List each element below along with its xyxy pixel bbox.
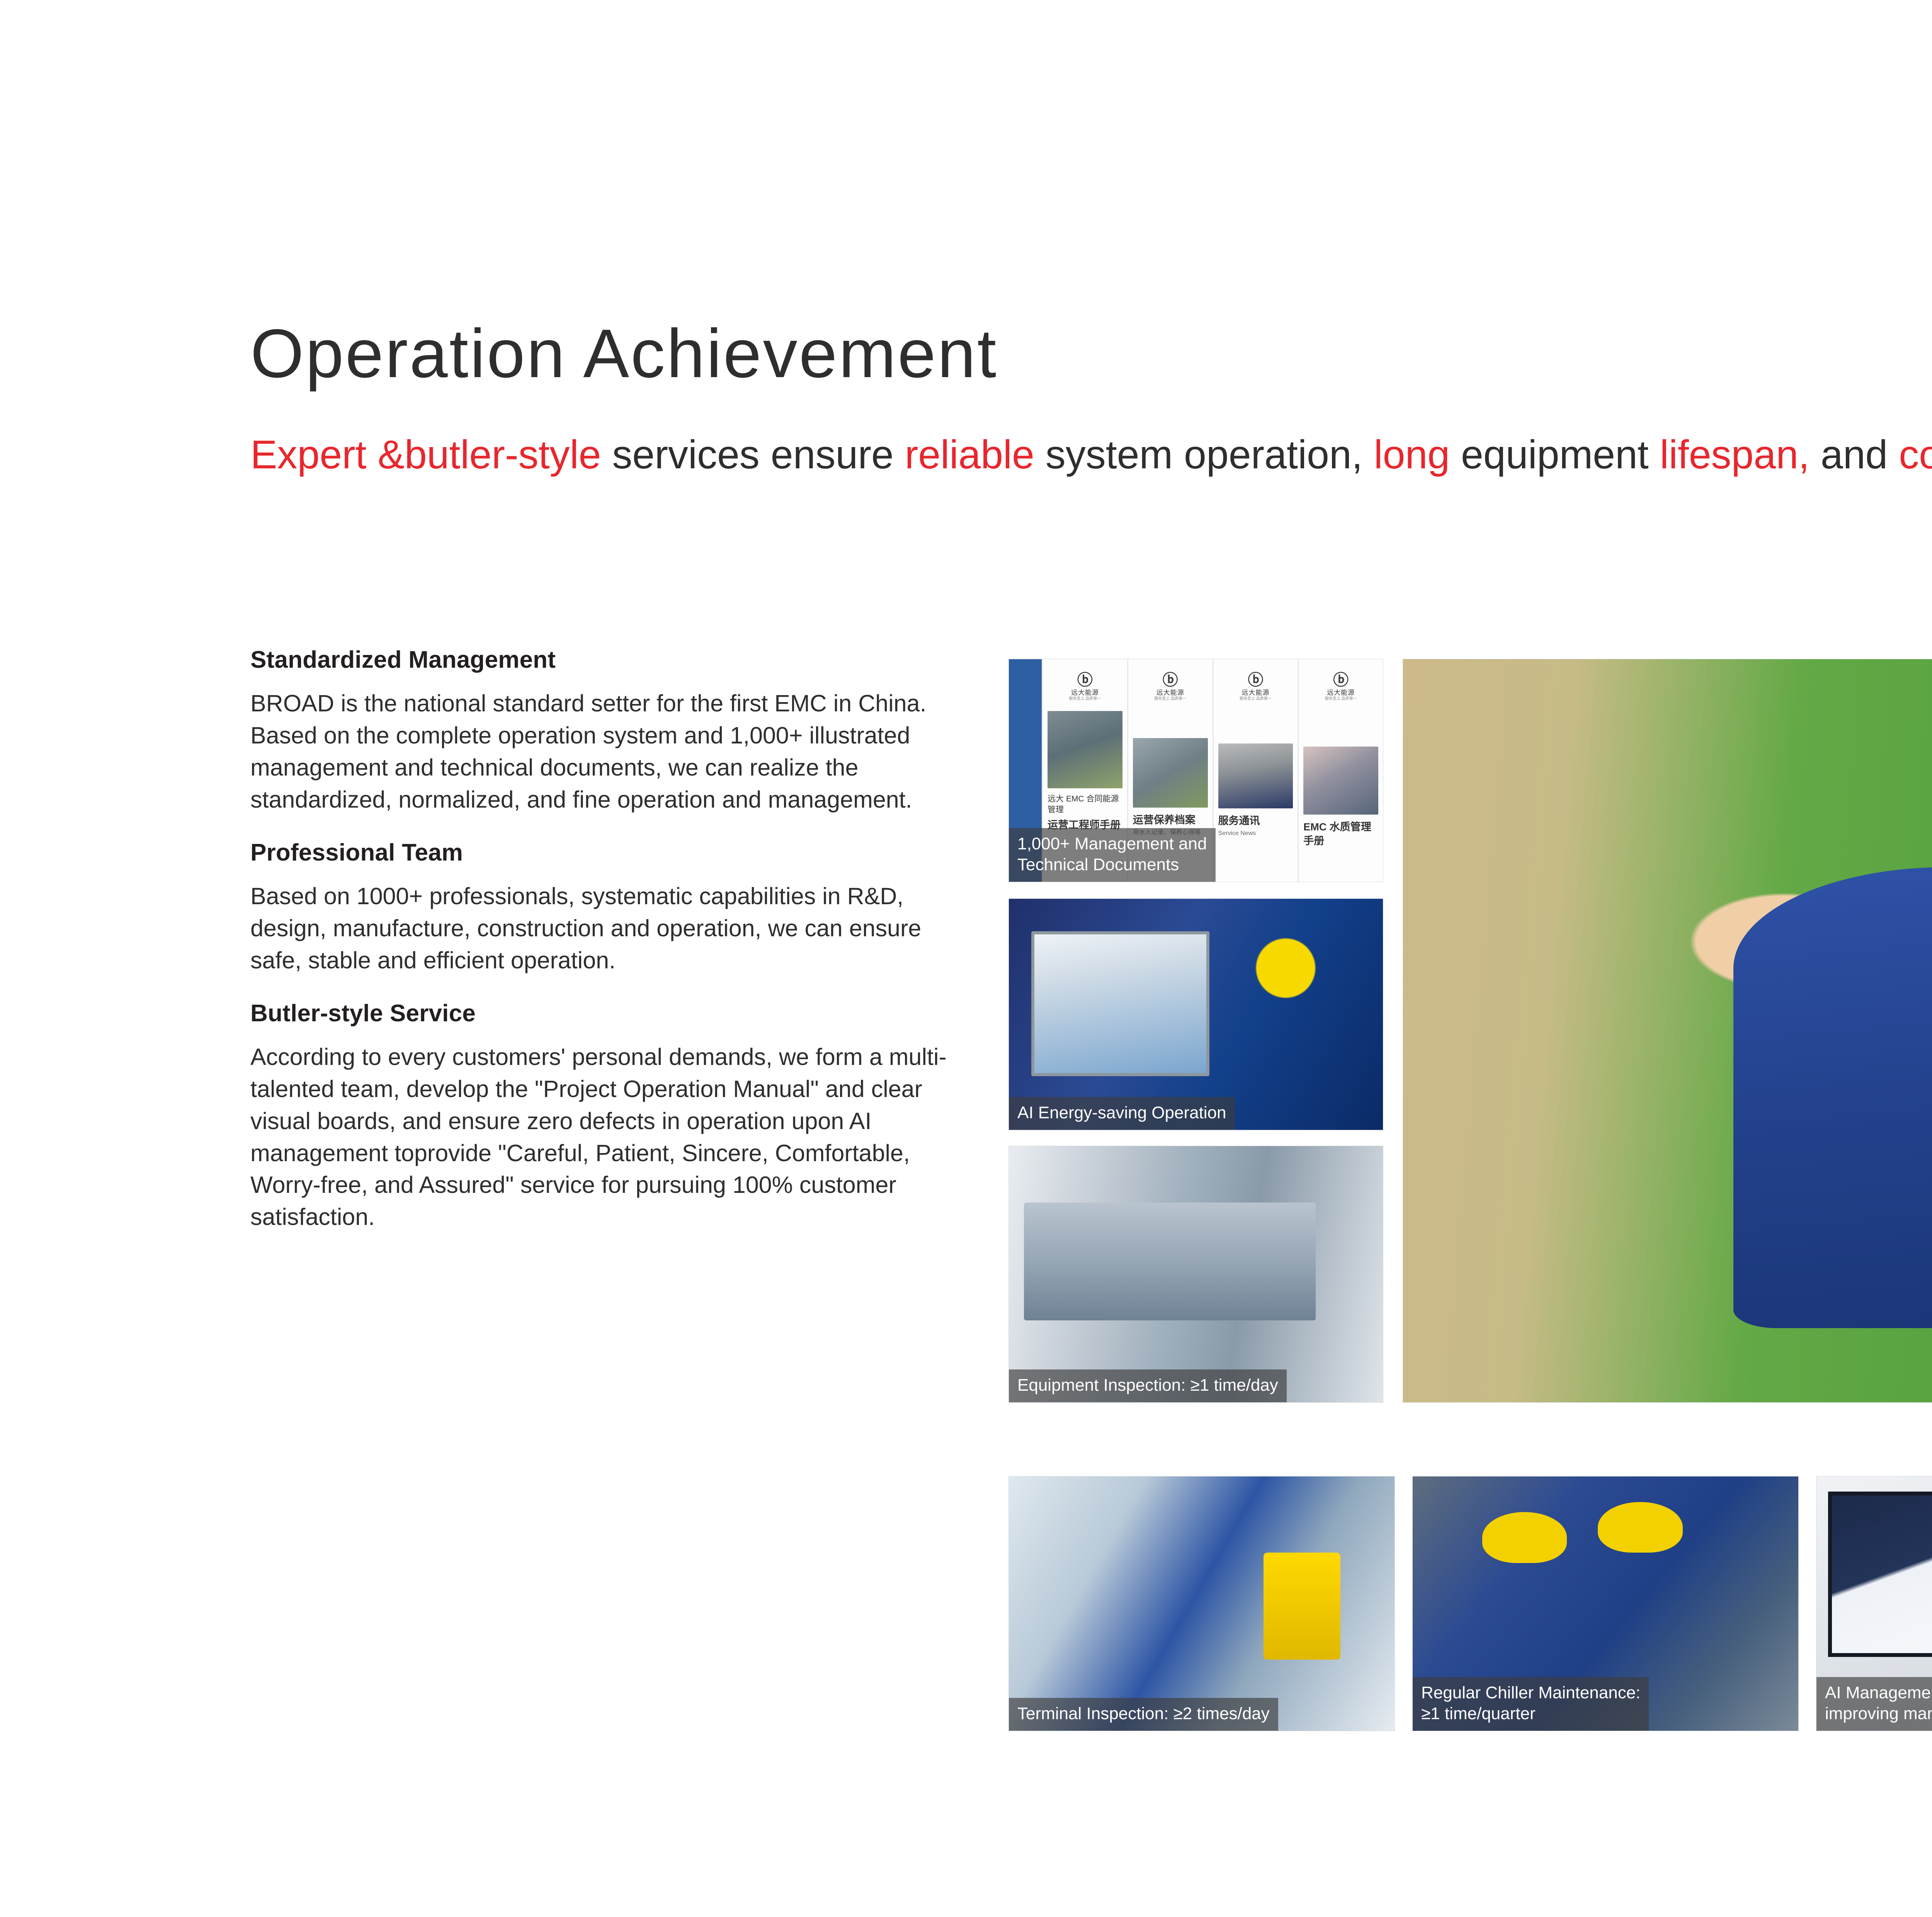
content-text-column: Standardized ManagementBROAD is the nati… — [250, 646, 957, 1256]
doc-photo — [1218, 743, 1293, 808]
subtitle-segment-1: services ensure — [612, 432, 905, 477]
doc-title: EMC 水质管理手册 — [1303, 820, 1378, 848]
subtitle-segment-0: Expert &butler-style — [250, 432, 612, 477]
tile-caption: Equipment Inspection: ≥1 time/day — [1009, 1369, 1287, 1402]
doc-brand-name: 远大能源 — [1043, 689, 1127, 696]
doc-brand-sub: 服务至上 品质第一 — [1214, 697, 1298, 701]
subtitle-segment-2: reliable — [905, 432, 1046, 477]
tile-caption: Terminal Inspection: ≥2 times/day — [1009, 1698, 1278, 1731]
document-cover: ⓑ 远大能源 服务至上 品质第一 EMC 水质管理手册 — [1299, 659, 1383, 882]
subtitle-segment-4: long — [1374, 432, 1461, 477]
tile-caption: Regular Chiller Maintenance: ≥1 time/qua… — [1413, 1677, 1649, 1731]
doc-brand-name: 远大能源 — [1214, 689, 1298, 696]
gallery-tile-documents[interactable]: ⓑ 远大能源 服务至上 品质第一 远大 EMC 合同能源管理 运营工程师手册 ⓑ… — [1009, 659, 1383, 882]
photo-terminal-inspection — [1009, 1476, 1395, 1731]
doc-brand-name: 远大能源 — [1299, 689, 1383, 696]
doc-brand-sub: 服务至上 品质第一 — [1043, 697, 1127, 701]
gallery-tile-ai-management-system[interactable]: AI Management System,significantly impro… — [1816, 1476, 1932, 1731]
tile-caption: AI Management System,significantly impro… — [1816, 1677, 1932, 1731]
doc-title: 运营保养档案 — [1133, 813, 1208, 827]
section-heading-1: Professional Team — [250, 839, 957, 866]
subtitle-segment-7: and — [1821, 432, 1899, 477]
section-body-0: BROAD is the national standard setter fo… — [250, 687, 957, 816]
document-brand-logo-icon: ⓑ 远大能源 服务至上 品质第一 — [1299, 672, 1383, 701]
document-brand-logo-icon: ⓑ 远大能源 服务至上 品质第一 — [1214, 672, 1298, 701]
tile-caption: AI Energy-saving Operation — [1009, 1097, 1235, 1130]
doc-title-block: 远大 EMC 合同能源管理 运营工程师手册 — [1048, 794, 1122, 832]
doc-line1: 远大 EMC 合同能源管理 — [1048, 794, 1119, 814]
document-cover: ⓑ 远大能源 服务至上 品质第一 服务通讯 Service News — [1214, 659, 1299, 882]
page-subtitle: Expert &butler-style services ensure rel… — [250, 430, 1932, 480]
doc-title-block: EMC 水质管理手册 — [1303, 820, 1378, 848]
doc-subtitle: Service News — [1218, 829, 1293, 838]
gallery-tile-chiller-maintenance[interactable]: Regular Chiller Maintenance: ≥1 time/qua… — [1412, 1476, 1799, 1731]
subtitle-segment-6: lifespan, — [1660, 432, 1821, 477]
page-title: Operation Achievement — [250, 314, 998, 393]
section-body-1: Based on 1000+ professionals, systematic… — [250, 880, 957, 976]
doc-title: 服务通讯 — [1218, 814, 1293, 828]
tile-caption: 1,000+ Management and Technical Document… — [1009, 828, 1216, 882]
doc-brand-name: 远大能源 — [1128, 689, 1213, 696]
section-heading-0: Standardized Management — [250, 646, 957, 674]
doc-photo — [1303, 747, 1378, 815]
doc-brand-sub: 服务至上 品质第一 — [1128, 697, 1213, 701]
subtitle-segment-8: comfortable — [1899, 432, 1932, 477]
gallery-tile-ai-energy-saving[interactable]: AI Energy-saving Operation — [1009, 898, 1383, 1130]
document-brand-logo-icon: ⓑ 远大能源 服务至上 品质第一 — [1043, 672, 1127, 701]
gallery-tile-terminal-inspection[interactable]: Terminal Inspection: ≥2 times/day — [1009, 1476, 1395, 1731]
gallery-tile-hero[interactable] — [1403, 659, 1932, 1403]
document-brand-logo-icon: ⓑ 远大能源 服务至上 品质第一 — [1128, 672, 1213, 701]
subtitle-segment-5: equipment — [1461, 432, 1660, 477]
photo-ai-energy-saving — [1009, 899, 1383, 1130]
subtitle-segment-3: system operation, — [1046, 432, 1374, 477]
section-heading-2: Butler-style Service — [250, 1000, 957, 1027]
section-body-2: According to every customers' personal d… — [250, 1041, 957, 1233]
doc-photo — [1133, 738, 1208, 808]
gallery-tile-equipment-inspection[interactable]: Equipment Inspection: ≥1 time/day — [1009, 1146, 1383, 1403]
doc-brand-sub: 服务至上 品质第一 — [1299, 697, 1383, 701]
photo-engineer-and-nurse — [1403, 659, 1932, 1402]
slide-page: BROAD ENERGY Integrated Energy Expert Op… — [0, 0, 1932, 1917]
doc-photo — [1048, 711, 1122, 788]
doc-title-block: 服务通讯 Service News — [1218, 814, 1293, 838]
photo-equipment-inspection — [1009, 1146, 1383, 1402]
